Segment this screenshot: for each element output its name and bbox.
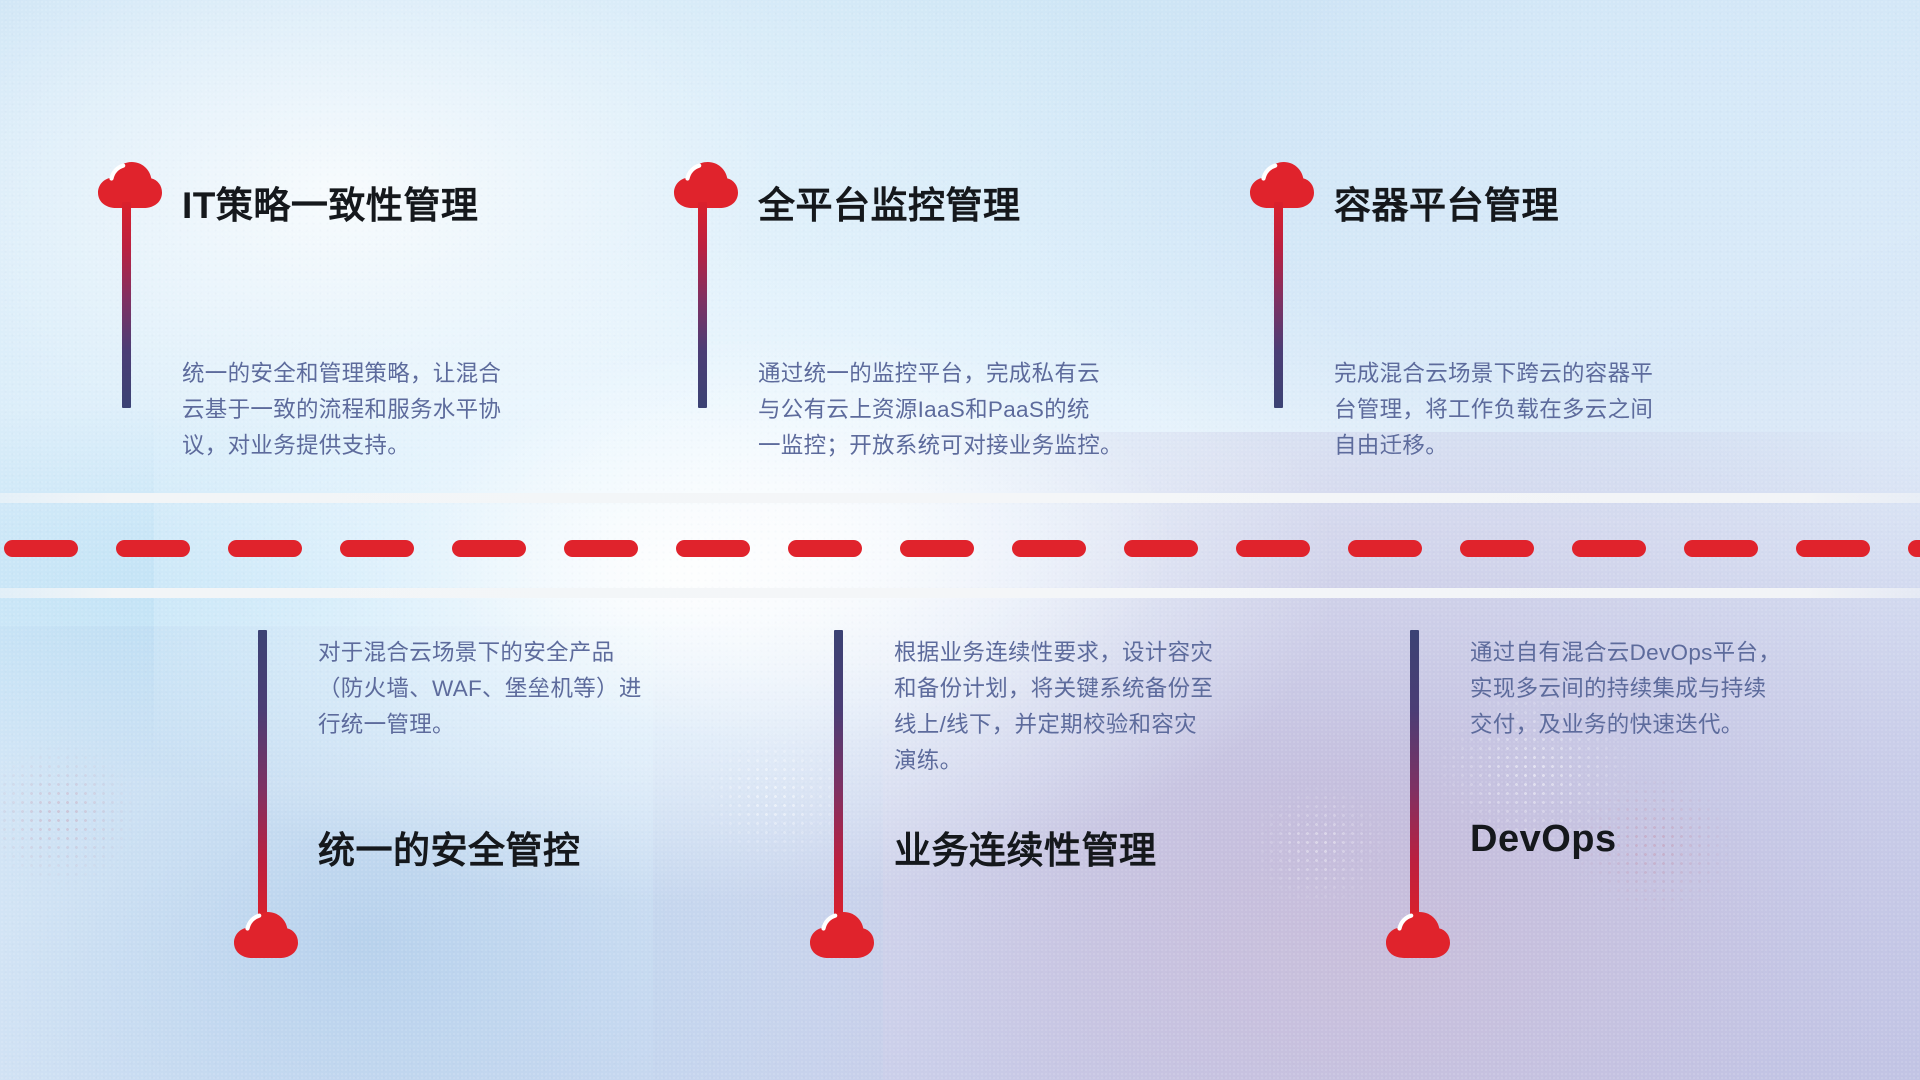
road-dash: [1460, 540, 1534, 557]
road-dash: [1124, 540, 1198, 557]
road-dash: [1348, 540, 1422, 557]
road-dash: [1012, 540, 1086, 557]
cloud-pin-icon: [232, 910, 300, 960]
road-dash: [1908, 540, 1920, 557]
pin-stem: [834, 630, 843, 918]
dot-texture-cluster: [1240, 775, 1400, 915]
cloud-pin-icon: [808, 910, 876, 960]
road-dash: [340, 540, 414, 557]
bottom-body-1: 对于混合云场景下的安全产品 （防火墙、WAF、堡垒机等）进 行统一管理。: [318, 635, 748, 743]
top-title-2: 全平台监控管理: [758, 175, 1021, 229]
top-title-3: 容器平台管理: [1334, 175, 1559, 229]
bottom-title-3: DevOps: [1470, 818, 1617, 861]
cloud-pin-icon: [1384, 910, 1452, 960]
bottom-title-1: 统一的安全管控: [318, 820, 581, 874]
road-edge-line-top: [0, 493, 1920, 503]
road-dash: [116, 540, 190, 557]
road-dash: [1572, 540, 1646, 557]
road-dash: [1796, 540, 1870, 557]
pin-stem: [122, 202, 131, 408]
pin-stem: [1410, 630, 1419, 918]
bottom-body-3: 通过自有混合云DevOps平台， 实现多云间的持续集成与持续 交付，及业务的快速…: [1470, 635, 1910, 743]
road-dash: [228, 540, 302, 557]
top-body-2: 通过统一的监控平台，完成私有云 与公有云上资源IaaS和PaaS的统 一监控；开…: [758, 356, 1208, 464]
pin-stem: [698, 202, 707, 408]
bottom-title-2: 业务连续性管理: [894, 820, 1157, 874]
dot-texture-cluster: [0, 735, 150, 895]
road-center-dashes: [0, 540, 1920, 557]
road-dash: [900, 540, 974, 557]
road-dash: [1236, 540, 1310, 557]
road-dash: [676, 540, 750, 557]
top-body-3: 完成混合云场景下跨云的容器平 台管理，将工作负载在多云之间 自由迁移。: [1334, 356, 1764, 464]
road-dash: [564, 540, 638, 557]
road-edge-line-bottom: [0, 588, 1920, 598]
top-body-1: 统一的安全和管理策略，让混合 云基于一致的流程和服务水平协 议，对业务提供支持。: [182, 356, 612, 464]
top-title-1: IT策略一致性管理: [182, 175, 478, 229]
road-dash: [788, 540, 862, 557]
pin-stem: [1274, 202, 1283, 408]
road-dash: [1684, 540, 1758, 557]
infographic-canvas: IT策略一致性管理 统一的安全和管理策略，让混合 云基于一致的流程和服务水平协 …: [0, 0, 1920, 1080]
road-dash: [4, 540, 78, 557]
pin-stem: [258, 630, 267, 918]
road-dash: [452, 540, 526, 557]
bottom-body-2: 根据业务连续性要求，设计容灾 和备份计划，将关键系统备份至 线上/线下，并定期校…: [894, 635, 1344, 779]
